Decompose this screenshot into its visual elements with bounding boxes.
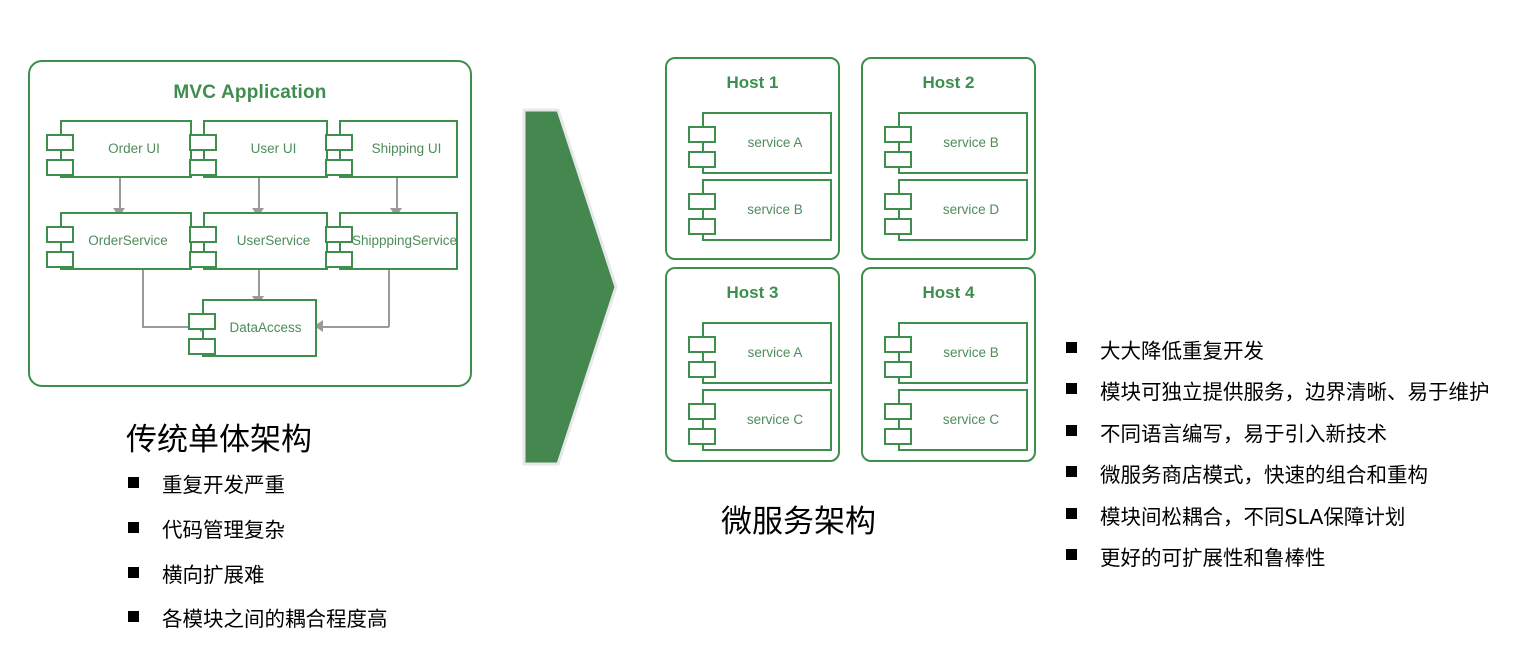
- connector-shippingservice-to-dataaccess-vertical: [388, 270, 390, 327]
- list-item-label: 模块可独立提供服务，边界清晰、易于维护: [1100, 376, 1490, 408]
- list-item-label: 模块间松耦合，不同SLA保障计划: [1100, 501, 1405, 533]
- component-shipping-ui[interactable]: Shipping UI: [325, 120, 458, 178]
- list-item-label: 不同语言编写，易于引入新技术: [1100, 418, 1387, 450]
- bullet-square-icon: [1066, 425, 1077, 436]
- monolith-heading: 传统单体架构: [126, 414, 312, 459]
- list-item-label: 更好的可扩展性和鲁棒性: [1100, 542, 1326, 574]
- component-label: UserService: [223, 212, 324, 270]
- component-tab-lower: [46, 159, 74, 176]
- component-label: service B: [918, 112, 1024, 174]
- component-user-ui[interactable]: User UI: [189, 120, 328, 178]
- component-tab-upper: [189, 134, 217, 151]
- host-box-1[interactable]: Host 1 service A service B: [665, 57, 840, 260]
- component-tab-upper: [884, 403, 912, 420]
- component-tab-lower: [884, 361, 912, 378]
- list-item-label: 代码管理复杂: [162, 515, 285, 547]
- component-tab-upper: [189, 226, 217, 243]
- component-tab-lower: [688, 218, 716, 235]
- component-label: service D: [918, 179, 1024, 241]
- component-tab-lower: [688, 428, 716, 445]
- component-label: OrderService: [68, 212, 188, 270]
- host-title: Host 4: [863, 283, 1034, 303]
- list-item-label: 各模块之间的耦合程度高: [162, 604, 388, 636]
- microservices-heading: 微服务架构: [721, 496, 876, 541]
- bullet-square-icon: [128, 611, 139, 622]
- component-tab-lower: [884, 218, 912, 235]
- component-tab-lower: [189, 251, 217, 268]
- list-item-label: 微服务商店模式，快速的组合和重构: [1100, 459, 1428, 491]
- list-item: 大大降低重复开发: [1066, 335, 1496, 367]
- mvc-application-title: MVC Application: [30, 82, 470, 104]
- list-item: 各模块之间的耦合程度高: [128, 604, 388, 636]
- component-tab-upper: [188, 313, 216, 330]
- component-tab-upper: [325, 134, 353, 151]
- component-service-b[interactable]: service B: [884, 322, 1028, 384]
- host-box-3[interactable]: Host 3 service A service C: [665, 267, 840, 462]
- component-tab-lower: [884, 151, 912, 168]
- component-user-service[interactable]: UserService: [189, 212, 328, 270]
- component-service-d[interactable]: service D: [884, 179, 1028, 241]
- microservices-benefits-list: 大大降低重复开发 模块可独立提供服务，边界清晰、易于维护 不同语言编写，易于引入…: [1066, 335, 1496, 583]
- component-service-c[interactable]: service C: [884, 389, 1028, 451]
- mvc-application-container: MVC Application Order UI User UI Shippin…: [28, 60, 472, 387]
- component-order-service[interactable]: OrderService: [46, 212, 192, 270]
- bullet-square-icon: [1066, 383, 1077, 394]
- component-label: service A: [722, 322, 828, 384]
- component-shipping-service[interactable]: ShipppingService: [325, 212, 458, 270]
- list-item-label: 横向扩展难: [162, 560, 265, 592]
- bullet-square-icon: [128, 477, 139, 488]
- list-item: 微服务商店模式，快速的组合和重构: [1066, 459, 1496, 491]
- component-label: ShipppingService: [353, 212, 456, 270]
- component-label: Shipping UI: [359, 120, 454, 178]
- component-tab-lower: [188, 338, 216, 355]
- list-item-label: 重复开发严重: [162, 470, 285, 502]
- component-tab-upper: [46, 134, 74, 151]
- component-tab-lower: [189, 159, 217, 176]
- component-tab-upper: [325, 226, 353, 243]
- diagram-canvas: MVC Application Order UI User UI Shippin…: [0, 0, 1516, 659]
- component-data-access[interactable]: DataAccess: [188, 299, 317, 357]
- component-label: service C: [722, 389, 828, 451]
- component-tab-upper: [884, 126, 912, 143]
- component-label: service A: [722, 112, 828, 174]
- component-tab-lower: [884, 428, 912, 445]
- list-item: 模块可独立提供服务，边界清晰、易于维护: [1066, 376, 1496, 408]
- connector-orderservice-to-dataaccess-vertical: [142, 270, 144, 327]
- transform-arrow-icon: [518, 104, 622, 470]
- component-tab-upper: [884, 336, 912, 353]
- component-label: User UI: [223, 120, 324, 178]
- host-box-2[interactable]: Host 2 service B service D: [861, 57, 1036, 260]
- component-tab-lower: [688, 361, 716, 378]
- component-service-b[interactable]: service B: [688, 179, 832, 241]
- list-item: 模块间松耦合，不同SLA保障计划: [1066, 501, 1496, 533]
- component-service-a[interactable]: service A: [688, 112, 832, 174]
- bullet-square-icon: [128, 567, 139, 578]
- connector-shippingservice-to-dataaccess-horizontal: [323, 326, 389, 328]
- component-tab-upper: [688, 403, 716, 420]
- component-label: Order UI: [80, 120, 188, 178]
- monolith-drawbacks-list: 重复开发严重 代码管理复杂 横向扩展难 各模块之间的耦合程度高: [128, 470, 388, 649]
- bullet-square-icon: [128, 522, 139, 533]
- bullet-square-icon: [1066, 466, 1077, 477]
- host-title: Host 1: [667, 73, 838, 93]
- host-box-4[interactable]: Host 4 service B service C: [861, 267, 1036, 462]
- component-order-ui[interactable]: Order UI: [46, 120, 192, 178]
- bullet-square-icon: [1066, 508, 1077, 519]
- bullet-square-icon: [1066, 549, 1077, 560]
- component-label: service B: [722, 179, 828, 241]
- component-tab-lower: [325, 159, 353, 176]
- component-label: DataAccess: [218, 299, 313, 357]
- component-tab-upper: [688, 193, 716, 210]
- host-title: Host 2: [863, 73, 1034, 93]
- host-title: Host 3: [667, 283, 838, 303]
- arrow-shape: [524, 110, 616, 464]
- component-tab-lower: [688, 151, 716, 168]
- component-label: service C: [918, 389, 1024, 451]
- list-item: 重复开发严重: [128, 470, 388, 502]
- list-item-label: 大大降低重复开发: [1100, 335, 1264, 367]
- component-tab-upper: [884, 193, 912, 210]
- list-item: 横向扩展难: [128, 560, 388, 592]
- component-service-a[interactable]: service A: [688, 322, 832, 384]
- bullet-square-icon: [1066, 342, 1077, 353]
- component-tab-lower: [325, 251, 353, 268]
- list-item: 代码管理复杂: [128, 515, 388, 547]
- component-tab-upper: [688, 336, 716, 353]
- list-item: 不同语言编写，易于引入新技术: [1066, 418, 1496, 450]
- component-service-c[interactable]: service C: [688, 389, 832, 451]
- list-item: 更好的可扩展性和鲁棒性: [1066, 542, 1496, 574]
- component-tab-upper: [688, 126, 716, 143]
- component-label: service B: [918, 322, 1024, 384]
- component-service-b[interactable]: service B: [884, 112, 1028, 174]
